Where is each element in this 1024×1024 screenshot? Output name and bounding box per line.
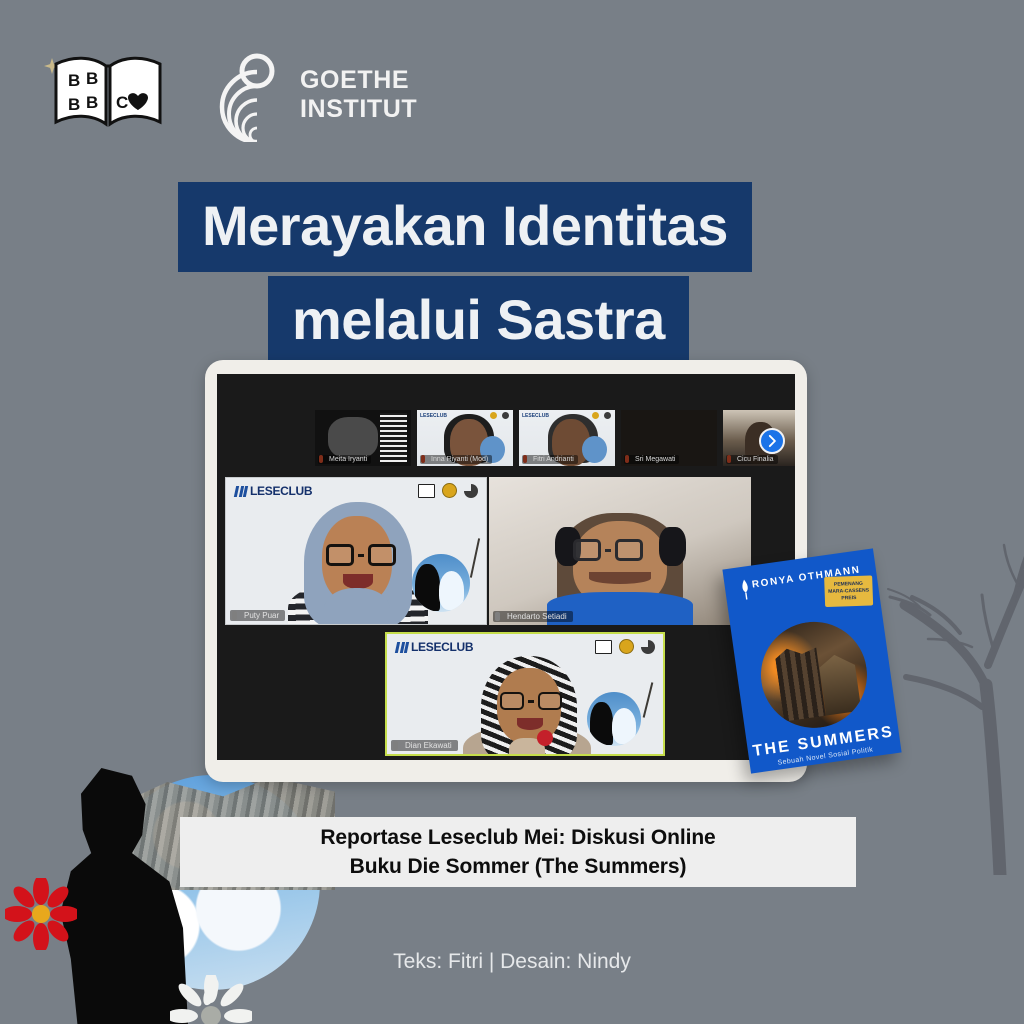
svg-text:B: B (68, 71, 80, 90)
title-line-1: Merayakan Identitas (178, 182, 752, 272)
tile-name-label: Puty Puar (230, 610, 285, 621)
leseclub-wordmark: LESECLUB (411, 640, 473, 654)
svg-text:B: B (86, 93, 98, 112)
svg-text:B: B (86, 69, 98, 88)
next-page-button[interactable] (759, 428, 785, 454)
book-cover: RONYA OTHMANN PEMENANG MARA-CASSENS PREI… (722, 548, 901, 773)
goethe-mini-icon (604, 412, 611, 419)
mini-brand-label: LESECLUB (522, 413, 549, 419)
goethe-line1: GOETHE (300, 66, 417, 95)
mini-brand-label: LESECLUB (420, 413, 447, 419)
white-daisy-icon (170, 975, 252, 1024)
svg-text:B: B (68, 95, 80, 114)
leseclub-bars-icon (395, 642, 409, 653)
thumbnail-name: Fitri Andrianti (522, 455, 578, 464)
thumbnail-name: Meita Iryanti (318, 455, 371, 464)
goethe-mini-icon (502, 412, 509, 419)
tablet-device: Meita Iryanti LESECLUB Inna Riyanti (Mod… (205, 360, 807, 782)
poster-canvas: B B B B C GOETHE INSTITUT Merayakan Iden… (0, 0, 1024, 1024)
credits-line: Teks: Fitri | Desain: Nindy (0, 950, 1024, 974)
video-tile-dian-ekawati[interactable]: LESECLUB (385, 632, 665, 756)
thumbnail-participant-3[interactable]: LESECLUB Fitri Andrianti (519, 410, 615, 466)
tile-name-label: Dian Ekawati (391, 740, 458, 751)
university-crest-icon (619, 639, 634, 654)
leseclub-logo: LESECLUB (396, 640, 473, 654)
crest-icon (592, 412, 599, 419)
bbbc-open-book-logo: B B B B C (52, 50, 164, 132)
video-tile-puty-puar[interactable]: LESECLUB (225, 477, 487, 625)
book-cover-photo (754, 615, 874, 735)
video-tile-hendarto-setiadi[interactable]: Hendarto Setiadi (489, 477, 751, 625)
video-call-screen: Meita Iryanti LESECLUB Inna Riyanti (Mod… (217, 374, 795, 760)
page-title: Merayakan Identitas melalui Sastra (0, 182, 1024, 366)
thumbnail-name: Sri Megawati (624, 455, 679, 464)
participant-thumbnail-strip[interactable]: Meita Iryanti LESECLUB Inna Riyanti (Mod… (217, 410, 795, 470)
tile-name-label: Hendarto Setiadi (493, 611, 573, 622)
snow-scene-decor (412, 554, 470, 612)
thumbnail-name: Cicu Finalia (726, 455, 778, 464)
caption-line-2: Buku Die Sommer (The Summers) (350, 852, 687, 881)
leseclub-bars-icon (234, 486, 248, 497)
header: B B B B C GOETHE INSTITUT (0, 0, 1024, 150)
thumbnail-name: Inna Riyanti (Mod) (420, 455, 492, 464)
caption-bar: Reportase Leseclub Mei: Diskusi Online B… (180, 817, 856, 887)
title-line-2: melalui Sastra (268, 276, 689, 366)
tile-icon-row (595, 639, 655, 654)
svg-text:C: C (116, 93, 128, 112)
goethe-institut-logo-icon (196, 46, 292, 142)
chevron-right-icon (764, 433, 780, 449)
snow-scene-decor (587, 692, 641, 746)
caption-line-1: Reportase Leseclub Mei: Diskusi Online (320, 823, 715, 852)
goethe-wordmark: GOETHE INSTITUT (300, 66, 417, 124)
goethe-line2: INSTITUT (300, 95, 417, 124)
award-sticker: PEMENANG MARA-CASSENS PREIS (824, 575, 873, 607)
thumbnail-participant-2[interactable]: LESECLUB Inna Riyanti (Mod) (417, 410, 513, 466)
goethe-small-icon (641, 640, 655, 654)
thumbnail-participant-1[interactable]: Meita Iryanti (315, 410, 411, 466)
thumbnail-participant-4[interactable]: Sri Megawati (621, 410, 717, 466)
crest-icon (490, 412, 497, 419)
red-flower-icon (5, 878, 77, 950)
book-icon (595, 640, 612, 654)
